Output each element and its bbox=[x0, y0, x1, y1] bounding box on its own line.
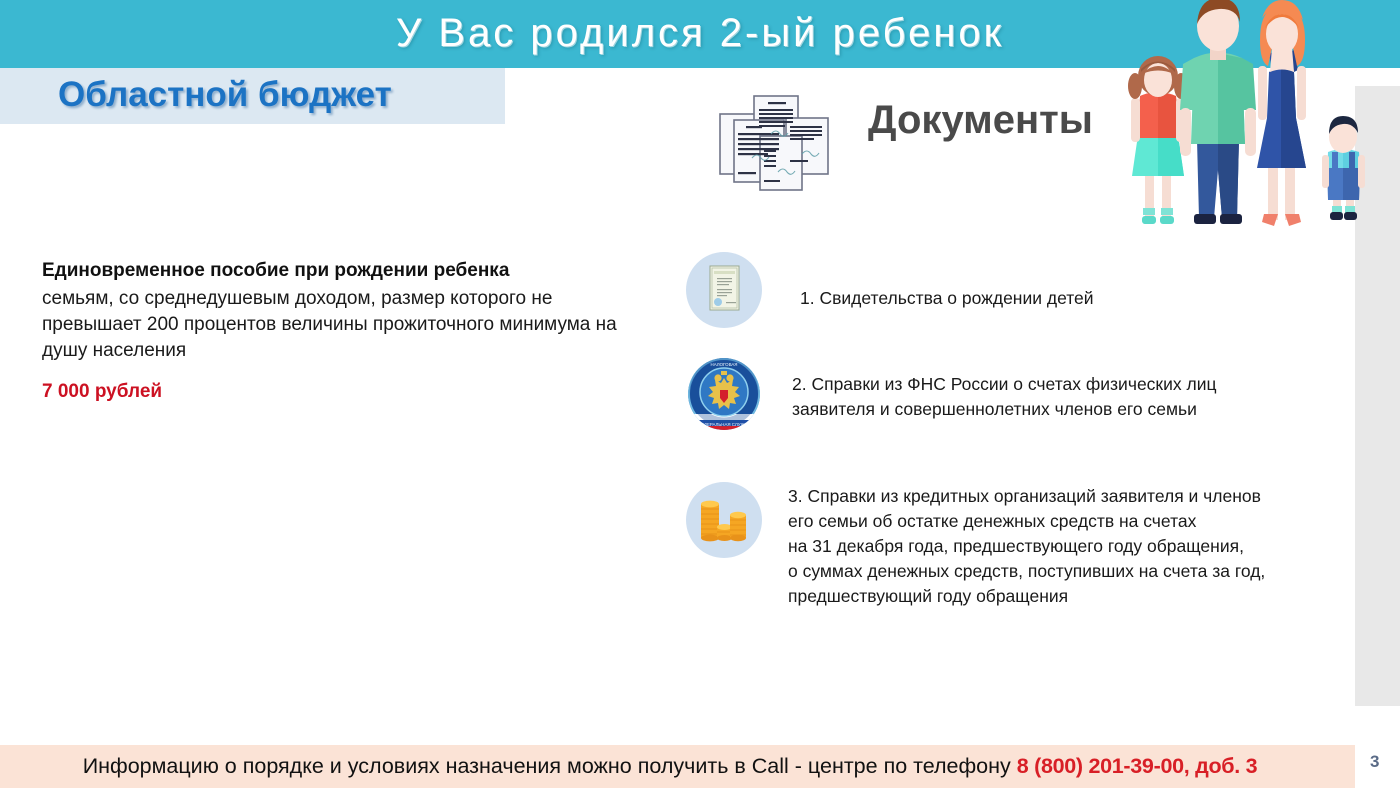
benefit-amount: 7 000 рублей bbox=[42, 380, 642, 404]
footer-phone-number: 8 (800) 201-39-00, доб. 3 bbox=[1017, 754, 1258, 778]
document-list-item-2-text: 2. Справки из ФНС России о счетах физиче… bbox=[792, 372, 1217, 422]
slide-canvas: У Вас родился 2-ый ребенок Областной бюд… bbox=[0, 0, 1400, 788]
page-title: У Вас родился 2-ый ребенок bbox=[300, 6, 1100, 62]
document-list-item-2: НАЛОГОВАЯ ФЕДЕРАЛЬНАЯ СЛУЖБА 2. Справки … bbox=[686, 356, 1217, 432]
footer-text-label: Информацию о порядке и условиях назначен… bbox=[83, 754, 1017, 778]
documents-title: Документы bbox=[868, 98, 1093, 143]
benefit-info-block: Единовременное пособие при рождении ребе… bbox=[42, 258, 642, 404]
birth-certificate-icon bbox=[686, 252, 762, 328]
fns-emblem-icon: НАЛОГОВАЯ ФЕДЕРАЛЬНАЯ СЛУЖБА bbox=[686, 356, 762, 432]
benefit-description: семьям, со среднедушевым доходом, размер… bbox=[42, 286, 642, 364]
document-list-item-1: 1. Свидетельства о рождении детей bbox=[686, 252, 1094, 328]
document-list-item-1-text: 1. Свидетельства о рождении детей bbox=[800, 286, 1094, 311]
budget-banner-label: Областной бюджет bbox=[58, 75, 392, 115]
coin-stacks-icon bbox=[686, 482, 762, 558]
page-number: 3 bbox=[1370, 752, 1379, 772]
document-list-item-3: 3. Справки из кредитных организаций заяв… bbox=[686, 482, 1265, 609]
footer-text: Информацию о порядке и условиях назначен… bbox=[0, 745, 1340, 788]
svg-text:ФЕДЕРАЛЬНАЯ СЛУЖБА: ФЕДЕРАЛЬНАЯ СЛУЖБА bbox=[698, 422, 751, 427]
document-list-item-3-text: 3. Справки из кредитных организаций заяв… bbox=[788, 484, 1265, 609]
benefit-title: Единовременное пособие при рождении ребе… bbox=[42, 258, 642, 284]
family-illustration bbox=[1128, 0, 1372, 238]
documents-stack-icon bbox=[716, 92, 840, 192]
svg-text:НАЛОГОВАЯ: НАЛОГОВАЯ bbox=[711, 362, 738, 367]
